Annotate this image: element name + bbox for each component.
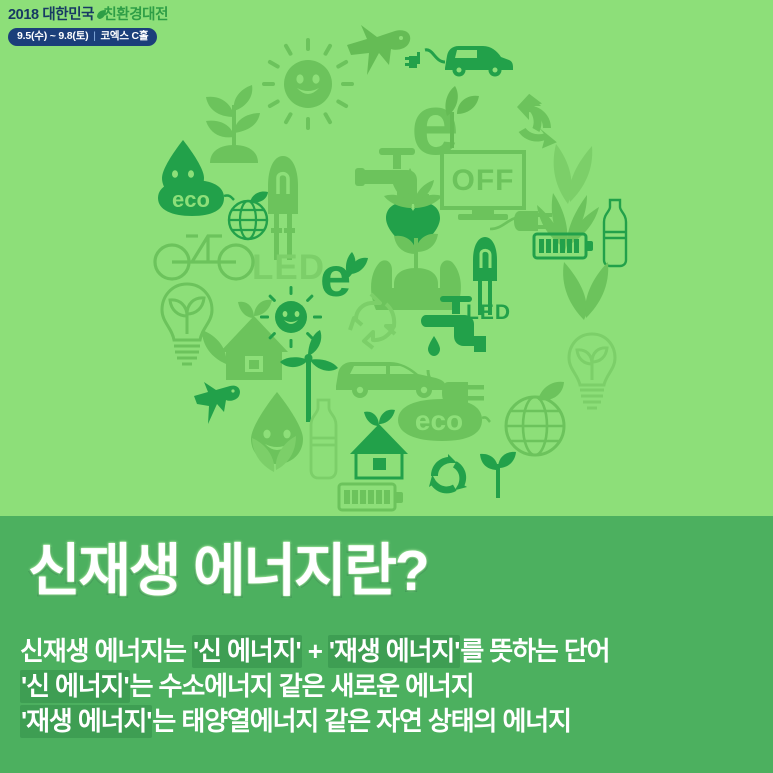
bird-small-icon <box>192 382 244 426</box>
leaf-pair-icon <box>552 252 616 322</box>
sun-smiley-icon <box>262 38 354 130</box>
sprout-small-icon <box>476 448 520 498</box>
line3-term: '재생 에너지' <box>20 705 152 738</box>
svg-text:LED: LED <box>252 248 325 287</box>
leaf-arc-icon <box>540 130 598 206</box>
svg-text:eco: eco <box>415 405 463 436</box>
line1-term-new-energy: '신 에너지' <box>192 635 302 668</box>
electric-car-icon <box>405 38 513 80</box>
svg-text:eco: eco <box>172 187 210 212</box>
bicycle-icon <box>152 222 256 282</box>
leaf-fan-icon <box>250 428 298 474</box>
logo-year: 2018 <box>8 7 39 23</box>
page-title: 신재생 에너지란? <box>28 538 428 604</box>
leaf-cluster-icon <box>200 322 252 366</box>
battery-bottom-icon <box>338 482 404 512</box>
leaf-icon <box>96 7 106 17</box>
logo-event-name: 친환경대전 <box>103 7 168 23</box>
body-line-3: '재생 에너지'는 태양열에너지 같은 자연 상태의 에너지 <box>20 704 760 739</box>
body-text-block: 신재생 에너지는 '신 에너지' + '재생 에너지'를 뜻하는 단어 '신 에… <box>20 634 760 739</box>
eco-leaf-badge-icon: eco <box>152 178 234 218</box>
eco-oval-badge-icon: eco <box>392 396 490 444</box>
lightbulb-leaf-lower-icon <box>565 330 619 412</box>
line1-suffix: 를 뜻하는 단어 <box>460 636 609 666</box>
illustration-panel: eco <box>0 0 773 516</box>
water-bottle-large-icon <box>306 398 340 480</box>
svg-text:OFF: OFF <box>452 164 515 197</box>
bird-icon <box>345 25 413 77</box>
poster-card: eco <box>0 0 773 773</box>
logo-badge-dates: 9.5(수) ~ 9.8(토) <box>17 30 88 42</box>
logo-title-line: 2018 대한민국 친환경대전 <box>8 6 180 24</box>
body-line-2: '신 에너지'는 수소에너지 같은 새로운 에너지 <box>20 669 760 704</box>
logo-date-badge: 9.5(수) ~ 9.8(토) | 코엑스 C홀 <box>8 28 157 46</box>
eco-icon-collage: eco <box>0 0 773 516</box>
logo-badge-venue: 코엑스 C홀 <box>100 30 148 42</box>
recycle-small-icon <box>424 452 472 500</box>
logo-badge-separator: | <box>93 30 96 42</box>
line2-term: '신 에너지' <box>20 670 130 703</box>
body-line-1: 신재생 에너지는 '신 에너지' + '재생 에너지'를 뜻하는 단어 <box>20 634 760 669</box>
event-logo: 2018 대한민국 친환경대전 9.5(수) ~ 9.8(토) | 코엑스 C홀 <box>8 6 180 46</box>
line2-rest: 는 수소에너지 같은 새로운 에너지 <box>130 671 474 701</box>
text-panel: 신재생 에너지란? 신재생 에너지는 '신 에너지' + '재생 에너지'를 뜻… <box>0 516 773 773</box>
recycle-arrows-outline-icon <box>340 286 402 348</box>
line1-prefix: 신재생 에너지는 <box>20 636 192 666</box>
line1-plus: + <box>302 636 328 666</box>
logo-nation: 대한민국 <box>42 7 94 23</box>
line3-rest: 는 태양열에너지 같은 자연 상태의 에너지 <box>152 706 571 736</box>
line1-term-renewable-energy: '재생 에너지' <box>328 635 460 668</box>
